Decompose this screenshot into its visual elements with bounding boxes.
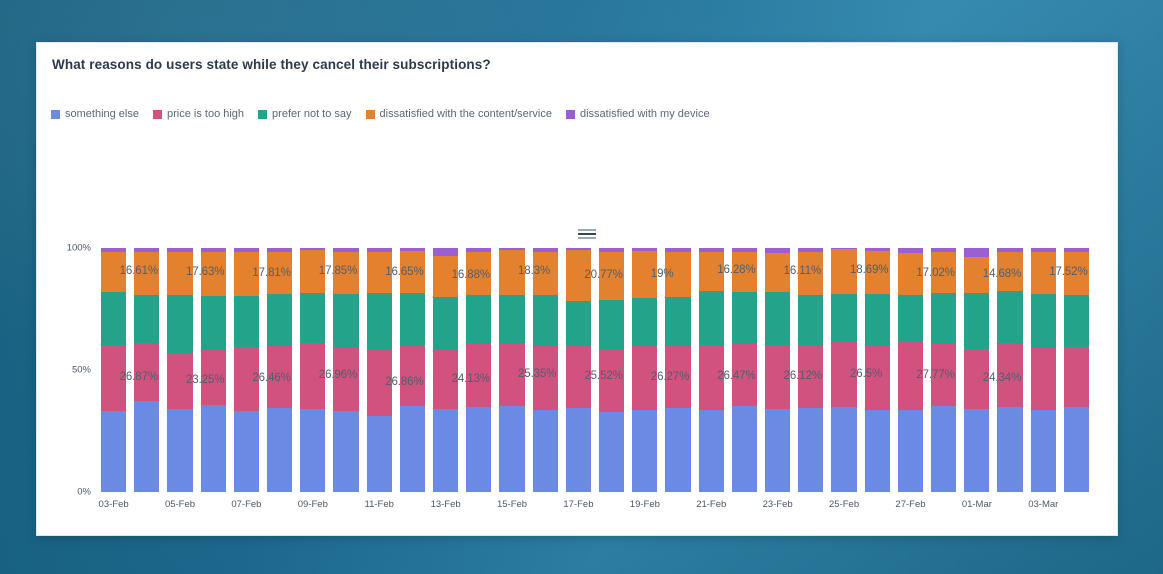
legend-swatch-icon <box>51 110 60 119</box>
bar-segment[interactable] <box>300 343 325 409</box>
bar-column[interactable] <box>462 248 495 492</box>
bar-segment[interactable] <box>167 252 192 295</box>
bar-segment[interactable] <box>865 294 890 346</box>
bar-segment[interactable] <box>1064 407 1089 492</box>
x-axis-tick-label: 07-Feb <box>230 492 263 516</box>
bar-column[interactable] <box>695 248 728 492</box>
chart-legend: something elseprice is too highprefer no… <box>51 108 710 120</box>
bar-segment[interactable] <box>798 252 823 295</box>
bar-column[interactable] <box>894 248 927 492</box>
bar-column[interactable] <box>363 248 396 492</box>
bar-segment[interactable] <box>466 344 491 407</box>
bar-segment[interactable] <box>699 252 724 292</box>
bar-segment[interactable] <box>1031 294 1056 348</box>
bar-segment[interactable] <box>798 295 823 345</box>
bar-column[interactable] <box>97 248 130 492</box>
bar-segment[interactable] <box>599 349 624 412</box>
x-axis-tick-label: 23-Feb <box>761 492 794 516</box>
bar-segment[interactable] <box>964 248 989 257</box>
bar-segment[interactable] <box>333 348 358 411</box>
stacked-bar[interactable] <box>831 248 856 492</box>
stacked-bar[interactable] <box>898 248 923 492</box>
bar-segment[interactable] <box>433 409 458 492</box>
bar-segment[interactable] <box>831 342 856 407</box>
bar-segment[interactable] <box>865 410 890 492</box>
bar-segment[interactable] <box>566 301 591 346</box>
bar-column[interactable] <box>827 248 860 492</box>
bar-segment[interactable] <box>201 252 226 296</box>
stacked-bar[interactable] <box>665 248 690 492</box>
bar-segment[interactable] <box>599 300 624 349</box>
bar-segment[interactable] <box>699 345 724 410</box>
legend-item[interactable]: dissatisfied with the content/service <box>366 108 552 120</box>
bar-column[interactable] <box>130 248 163 492</box>
bar-segment[interactable] <box>865 251 890 294</box>
bar-segment[interactable] <box>765 345 790 409</box>
bar-segment[interactable] <box>167 295 192 353</box>
grip-line <box>578 229 596 231</box>
stacked-bar[interactable] <box>997 248 1022 492</box>
x-axis-tick-label: 21-Feb <box>695 492 728 516</box>
x-axis-tick-label: 19-Feb <box>628 492 661 516</box>
bar-column[interactable] <box>529 248 562 492</box>
bar-segment[interactable] <box>765 409 790 492</box>
bar-segment[interactable] <box>632 346 657 410</box>
bar-segment[interactable] <box>732 344 757 406</box>
bar-segment[interactable] <box>964 409 989 492</box>
bar-segment[interactable] <box>499 344 524 406</box>
bar-segment[interactable] <box>400 406 425 492</box>
bar-column[interactable] <box>927 248 960 492</box>
x-axis: 03-Feb05-Feb07-Feb09-Feb11-Feb13-Feb15-F… <box>97 492 1093 516</box>
bar-segment[interactable] <box>134 295 159 343</box>
x-axis-tick-empty <box>329 492 362 516</box>
bar-segment[interactable] <box>400 293 425 346</box>
bar-segment[interactable] <box>101 345 126 411</box>
y-axis-tick-label: 50% <box>72 365 91 376</box>
bar-segment[interactable] <box>433 297 458 350</box>
bar-segment[interactable] <box>201 296 226 351</box>
stacked-bar[interactable] <box>499 248 524 492</box>
bar-segment[interactable] <box>898 410 923 492</box>
bar-segment[interactable] <box>533 410 558 492</box>
bar-segment[interactable] <box>898 342 923 410</box>
stacked-bar[interactable] <box>632 248 657 492</box>
grip-line <box>578 237 596 239</box>
x-axis-tick-empty <box>197 492 230 516</box>
bar-segment[interactable] <box>831 407 856 492</box>
bar-column[interactable] <box>230 248 263 492</box>
bar-column[interactable] <box>263 248 296 492</box>
bar-segment[interactable] <box>1064 252 1089 295</box>
bar-column[interactable] <box>296 248 329 492</box>
y-axis-tick-label: 0% <box>77 487 91 498</box>
bar-segment[interactable] <box>433 256 458 297</box>
x-axis-tick-empty <box>661 492 694 516</box>
bar-segment[interactable] <box>997 407 1022 492</box>
bar-segment[interactable] <box>400 346 425 406</box>
bar-segment[interactable] <box>699 410 724 492</box>
stacked-bar[interactable] <box>1064 248 1089 492</box>
bar-segment[interactable] <box>134 401 159 492</box>
bar-column[interactable] <box>329 248 362 492</box>
stacked-bar[interactable] <box>134 248 159 492</box>
bar-segment[interactable] <box>599 252 624 301</box>
bar-column[interactable] <box>1027 248 1060 492</box>
x-axis-tick-label: 03-Mar <box>1027 492 1060 516</box>
bar-segment[interactable] <box>167 409 192 492</box>
legend-swatch-icon <box>258 110 267 119</box>
bar-column[interactable] <box>396 248 429 492</box>
bar-segment[interactable] <box>533 346 558 410</box>
drag-handle-icon[interactable] <box>578 229 596 239</box>
bar-segment[interactable] <box>632 251 657 297</box>
bar-segment[interactable] <box>765 292 790 345</box>
bar-segment[interactable] <box>865 346 890 410</box>
bar-segment[interactable] <box>533 295 558 346</box>
bar-segment[interactable] <box>566 408 591 492</box>
bar-segment[interactable] <box>665 297 690 346</box>
page-title: What reasons do users state while they c… <box>52 57 491 72</box>
x-axis-tick-label: 13-Feb <box>429 492 462 516</box>
y-axis-tick-label: 100% <box>67 243 91 254</box>
bar-segment[interactable] <box>1064 295 1089 347</box>
bar-segment[interactable] <box>997 343 1022 407</box>
bar-segment[interactable] <box>201 405 226 492</box>
bar-segment[interactable] <box>1031 348 1056 410</box>
stacked-bar[interactable] <box>267 248 292 492</box>
stacked-bar[interactable] <box>1031 248 1056 492</box>
bar-column[interactable] <box>728 248 761 492</box>
bar-segment[interactable] <box>632 298 657 346</box>
bar-segment[interactable] <box>931 252 956 293</box>
x-axis-tick-label: 05-Feb <box>163 492 196 516</box>
bar-column[interactable] <box>794 248 827 492</box>
bar-segment[interactable] <box>798 345 823 408</box>
bar-segment[interactable] <box>665 346 690 408</box>
bar-segment[interactable] <box>466 252 491 295</box>
x-axis-tick-empty <box>927 492 960 516</box>
bar-segment[interactable] <box>964 257 989 293</box>
bar-segment[interactable] <box>931 406 956 492</box>
bar-segment[interactable] <box>134 252 159 295</box>
legend-item[interactable]: something else <box>51 108 139 120</box>
bar-segment[interactable] <box>798 408 823 492</box>
bar-segment[interactable] <box>831 249 856 295</box>
stacked-bar[interactable] <box>533 248 558 492</box>
stacked-bar[interactable] <box>201 248 226 492</box>
bar-segment[interactable] <box>499 250 524 295</box>
stacked-bar[interactable] <box>234 248 259 492</box>
bar-segment[interactable] <box>300 250 325 294</box>
x-axis-tick-label: 11-Feb <box>363 492 396 516</box>
bar-segment[interactable] <box>167 353 192 410</box>
x-axis-tick-label: 15-Feb <box>495 492 528 516</box>
bar-segment[interactable] <box>234 252 259 295</box>
x-axis-tick-empty <box>794 492 827 516</box>
x-axis-tick-label: 25-Feb <box>827 492 860 516</box>
bar-segment[interactable] <box>931 344 956 406</box>
stacked-bar[interactable] <box>400 248 425 492</box>
stacked-bar[interactable] <box>699 248 724 492</box>
bar-column[interactable] <box>761 248 794 492</box>
bar-segment[interactable] <box>499 295 524 344</box>
x-axis-tick-empty <box>396 492 429 516</box>
legend-swatch-icon <box>366 110 375 119</box>
bar-segment[interactable] <box>665 408 690 492</box>
bar-segment[interactable] <box>300 293 325 343</box>
bar-segment[interactable] <box>134 343 159 402</box>
bar-segment[interactable] <box>466 407 491 492</box>
stacked-bar[interactable] <box>566 248 591 492</box>
bar-segment[interactable] <box>201 350 226 405</box>
bar-segment[interactable] <box>234 347 259 412</box>
legend-swatch-icon <box>566 110 575 119</box>
grip-line <box>578 233 596 236</box>
bar-column[interactable] <box>628 248 661 492</box>
stacked-bar[interactable] <box>101 248 126 492</box>
legend-item-label: something else <box>65 108 139 120</box>
bar-segment[interactable] <box>333 294 358 348</box>
bar-segment[interactable] <box>997 252 1022 292</box>
stacked-bar[interactable] <box>732 248 757 492</box>
bar-segment[interactable] <box>101 292 126 345</box>
stacked-bar[interactable] <box>964 248 989 492</box>
bar-segment[interactable] <box>665 252 690 297</box>
bar-segment[interactable] <box>964 293 989 349</box>
bar-segment[interactable] <box>566 250 591 301</box>
stacked-bar[interactable] <box>865 248 890 492</box>
bar-segment[interactable] <box>732 406 757 492</box>
x-axis-tick-label: 03-Feb <box>97 492 130 516</box>
bar-segment[interactable] <box>234 411 259 492</box>
bar-segment[interactable] <box>367 416 392 492</box>
bar-column[interactable] <box>595 248 628 492</box>
bar-segment[interactable] <box>898 253 923 295</box>
legend-swatch-icon <box>153 110 162 119</box>
legend-item-label: price is too high <box>167 108 244 120</box>
bar-segment[interactable] <box>267 408 292 492</box>
bar-segment[interactable] <box>234 296 259 347</box>
bar-column[interactable] <box>562 248 595 492</box>
stacked-bar[interactable] <box>765 248 790 492</box>
bar-segment[interactable] <box>433 248 458 256</box>
x-axis-tick-empty <box>1060 492 1093 516</box>
y-axis: 0%50%100% <box>51 248 97 492</box>
bar-segment[interactable] <box>400 251 425 292</box>
bar-column[interactable] <box>163 248 196 492</box>
stacked-bar[interactable] <box>367 248 392 492</box>
x-axis-tick-empty <box>861 492 894 516</box>
x-axis-tick-empty <box>263 492 296 516</box>
bar-segment[interactable] <box>1064 347 1089 408</box>
x-axis-tick-empty <box>462 492 495 516</box>
x-axis-tick-empty <box>595 492 628 516</box>
bar-segment[interactable] <box>566 346 591 408</box>
bar-column[interactable] <box>993 248 1026 492</box>
bar-segment[interactable] <box>1031 252 1056 295</box>
bar-segment[interactable] <box>333 252 358 294</box>
stacked-bar[interactable] <box>466 248 491 492</box>
bar-segment[interactable] <box>997 291 1022 343</box>
bar-segment[interactable] <box>1031 410 1056 491</box>
bar-segment[interactable] <box>300 409 325 492</box>
bar-segment[interactable] <box>367 293 392 350</box>
stacked-bar[interactable] <box>433 248 458 492</box>
legend-item-label: dissatisfied with my device <box>580 108 710 120</box>
bar-column[interactable] <box>960 248 993 492</box>
bar-column[interactable] <box>1060 248 1093 492</box>
x-axis-tick-label: 09-Feb <box>296 492 329 516</box>
bar-segment[interactable] <box>898 295 923 343</box>
stacked-bar[interactable] <box>333 248 358 492</box>
x-axis-tick-empty <box>728 492 761 516</box>
bar-column[interactable] <box>197 248 230 492</box>
x-axis-tick-label: 01-Mar <box>960 492 993 516</box>
chart-plot-area: 0%50%100% 03-Feb05-Feb07-Feb09-Feb11-Feb… <box>51 248 1105 520</box>
bar-segment[interactable] <box>931 293 956 344</box>
stacked-bar[interactable] <box>167 248 192 492</box>
bar-segment[interactable] <box>964 349 989 408</box>
bar-column[interactable] <box>661 248 694 492</box>
legend-item-label: dissatisfied with the content/service <box>380 108 552 120</box>
bar-segment[interactable] <box>267 294 292 346</box>
stacked-bar[interactable] <box>599 248 624 492</box>
bar-column[interactable] <box>861 248 894 492</box>
bar-segment[interactable] <box>101 252 126 293</box>
stacked-bar[interactable] <box>798 248 823 492</box>
bars-container <box>97 248 1093 492</box>
legend-item[interactable]: price is too high <box>153 108 244 120</box>
bar-segment[interactable] <box>699 291 724 345</box>
x-axis-tick-label: 17-Feb <box>562 492 595 516</box>
bar-segment[interactable] <box>831 294 856 342</box>
bar-segment[interactable] <box>732 252 757 293</box>
bar-column[interactable] <box>495 248 528 492</box>
bar-segment[interactable] <box>632 410 657 492</box>
bar-segment[interactable] <box>101 411 126 492</box>
legend-item-label: prefer not to say <box>272 108 352 120</box>
bar-segment[interactable] <box>367 350 392 416</box>
bar-segment[interactable] <box>267 346 292 407</box>
x-axis-tick-empty <box>130 492 163 516</box>
bar-segment[interactable] <box>732 292 757 344</box>
bar-segment[interactable] <box>433 350 458 409</box>
x-axis-tick-empty <box>529 492 562 516</box>
legend-item[interactable]: prefer not to say <box>258 108 352 120</box>
bar-segment[interactable] <box>533 252 558 295</box>
bar-segment[interactable] <box>466 295 491 345</box>
bar-segment[interactable] <box>333 411 358 492</box>
stacked-bar[interactable] <box>931 248 956 492</box>
bar-segment[interactable] <box>499 406 524 492</box>
bar-segment[interactable] <box>267 252 292 294</box>
x-axis-tick-empty <box>993 492 1026 516</box>
stacked-bar[interactable] <box>300 248 325 492</box>
x-axis-tick-label: 27-Feb <box>894 492 927 516</box>
bar-segment[interactable] <box>765 253 790 292</box>
legend-item[interactable]: dissatisfied with my device <box>566 108 710 120</box>
bar-segment[interactable] <box>367 252 392 293</box>
chart-card: What reasons do users state while they c… <box>36 42 1118 536</box>
bar-segment[interactable] <box>599 412 624 492</box>
bar-column[interactable] <box>429 248 462 492</box>
